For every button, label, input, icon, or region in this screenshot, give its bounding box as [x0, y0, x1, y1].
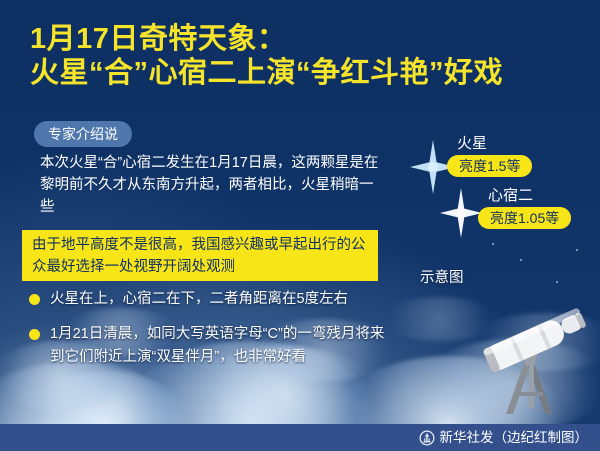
- list-item-text: 火星在上，心宿二在下，二者角距离在5度左右: [50, 291, 348, 307]
- sparkle-star-glyph: [440, 188, 482, 238]
- poster-title: 1月17日奇特天象： 火星“合”心宿二上演“争红斗艳”好戏: [30, 22, 578, 90]
- telescope-glyph: [470, 296, 590, 422]
- sparkle-star-icon: [440, 188, 482, 238]
- highlight-box: 由于地平高度不是很高，我国感兴趣或早起出行的公众最好选择一处视野开阔处观测: [22, 230, 378, 281]
- bullet-dot-icon: [29, 294, 40, 305]
- schematic-label: 示意图: [420, 268, 464, 288]
- list-item-text: 1月21日清晨，如同大写英语字母“C”的一弯残月将来到它们附近上演“双星伴月”，…: [50, 326, 384, 365]
- callout-mars-brightness: 亮度1.5等: [447, 155, 532, 177]
- intro-paragraph: 本次火星“合”心宿二发生在1月17日晨，这两颗星是在黎明前不久才从东南方升起，两…: [40, 152, 380, 218]
- infographic-poster: 1月17日奇特天象： 火星“合”心宿二上演“争红斗艳”好戏 专家介绍说 本次火星…: [0, 0, 600, 451]
- callout-antares-brightness: 亮度1.05等: [478, 207, 571, 229]
- bullet-dot-icon: [29, 329, 40, 340]
- telescope-icon: [470, 296, 590, 422]
- list-item: 火星在上，心宿二在下，二者角距离在5度左右: [28, 288, 394, 311]
- footer-credit: 新华社发（边纪红制图）: [440, 429, 589, 447]
- callout-mars: 火星 亮度1.5等: [447, 134, 532, 177]
- list-item: 1月21日清晨，如同大写英语字母“C”的一弯残月将来到它们附近上演“双星伴月”，…: [28, 323, 394, 369]
- bullet-list: 火星在上，心宿二在下，二者角距离在5度左右 1月21日清晨，如同大写英语字母“C…: [28, 288, 394, 381]
- footer-bar: 新华社发（边纪红制图）: [0, 424, 600, 451]
- xinhua-logo-icon: [419, 430, 435, 446]
- callout-antares-name: 心宿二: [488, 186, 571, 205]
- callout-mars-name: 火星: [457, 134, 532, 153]
- title-line-1: 1月17日奇特天象：: [30, 22, 578, 56]
- expert-badge: 专家介绍说: [34, 121, 132, 147]
- title-line-2: 火星“合”心宿二上演“争红斗艳”好戏: [30, 56, 578, 90]
- callout-antares: 心宿二 亮度1.05等: [478, 186, 571, 229]
